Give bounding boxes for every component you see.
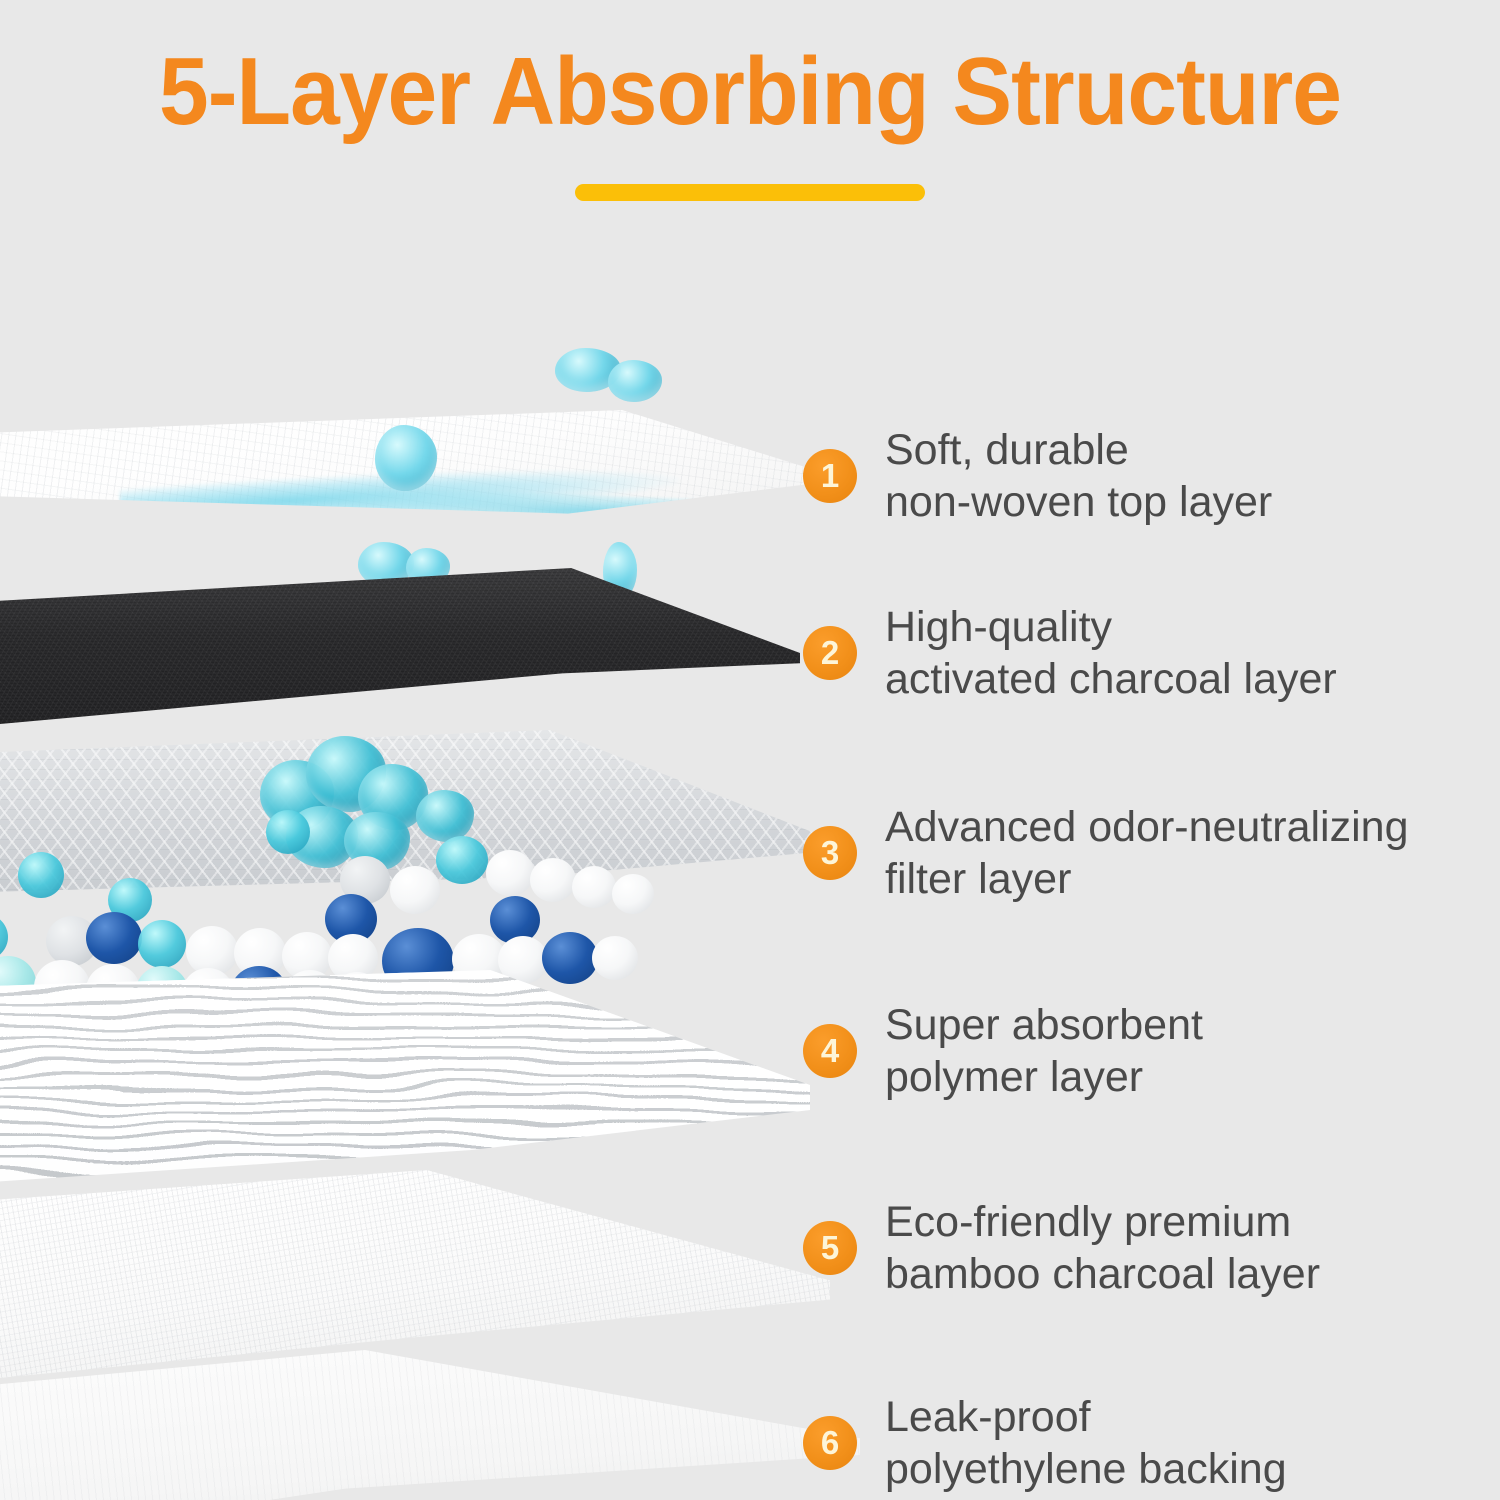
callout-item-2: 2 High-quality activated charcoal layer <box>803 601 1337 705</box>
badge-number-3: 3 <box>803 826 857 880</box>
callout-label-4: Super absorbent polymer layer <box>885 999 1203 1103</box>
infographic-canvas: 5-Layer Absorbing Structure <box>0 0 1500 1500</box>
callout-list: 1 Soft, durable non-woven top layer 2 Hi… <box>0 0 1500 1500</box>
callout-label-2: High-quality activated charcoal layer <box>885 601 1337 705</box>
callout-label-3: Advanced odor-neutralizing filter layer <box>885 801 1409 905</box>
badge-number-1: 1 <box>803 449 857 503</box>
callout-item-1: 1 Soft, durable non-woven top layer <box>803 424 1272 528</box>
callout-item-4: 4 Super absorbent polymer layer <box>803 999 1203 1103</box>
callout-item-5: 5 Eco-friendly premium bamboo charcoal l… <box>803 1196 1320 1300</box>
callout-label-1: Soft, durable non-woven top layer <box>885 424 1272 528</box>
badge-number-6: 6 <box>803 1416 857 1470</box>
callout-item-3: 3 Advanced odor-neutralizing filter laye… <box>803 801 1409 905</box>
badge-number-5: 5 <box>803 1221 857 1275</box>
badge-number-4: 4 <box>803 1024 857 1078</box>
callout-item-6: 6 Leak-proof polyethylene backing <box>803 1391 1287 1495</box>
callout-label-5: Eco-friendly premium bamboo charcoal lay… <box>885 1196 1320 1300</box>
callout-label-6: Leak-proof polyethylene backing <box>885 1391 1287 1495</box>
badge-number-2: 2 <box>803 626 857 680</box>
